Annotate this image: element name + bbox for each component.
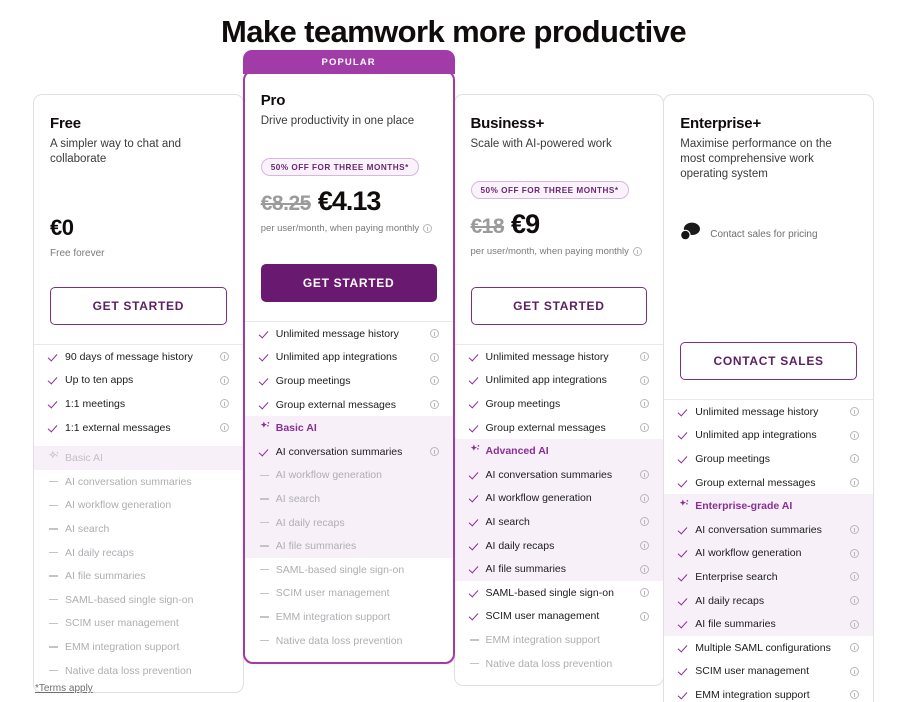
feature-label: SAML-based single sign-on — [486, 587, 638, 599]
feature-label: AI daily recaps — [65, 547, 217, 559]
feature-row: SAML-based single sign-on — [245, 558, 453, 582]
feature-label: Unlimited message history — [276, 328, 427, 340]
feature-state-icon — [260, 545, 276, 546]
info-icon[interactable] — [850, 454, 859, 463]
feature-state-icon — [679, 666, 695, 676]
price-current: €4.13 — [318, 186, 381, 217]
feature-row: SAML-based single sign-on — [34, 588, 243, 612]
feature-label: Group external messages — [695, 477, 847, 489]
feature-row: AI workflow generation — [664, 542, 873, 566]
feature-row: AI file summaries — [664, 612, 873, 636]
cta-wrapper: CONTACT SALES — [664, 342, 873, 380]
feature-label: AI workflow generation — [276, 469, 427, 481]
check-icon — [679, 619, 689, 629]
check-icon — [49, 375, 59, 385]
feature-row: 1:1 external messages — [34, 416, 243, 440]
feature-row: Group external messages — [245, 393, 453, 417]
feature-info-slot — [427, 376, 439, 385]
feature-list: 90 days of message historyUp to ten apps… — [34, 344, 243, 692]
feature-label: SCIM user management — [486, 610, 638, 622]
feature-row: AI file summaries — [245, 534, 453, 558]
info-icon[interactable] — [850, 572, 859, 581]
feature-state-icon — [49, 575, 65, 576]
feature-label: AI daily recaps — [695, 595, 847, 607]
feature-state-icon — [679, 596, 695, 606]
feature-row: Basic AI — [245, 416, 453, 440]
feature-info-slot — [847, 572, 859, 581]
pricing-card-free: FreeA simpler way to chat and collaborat… — [33, 94, 244, 693]
dash-icon — [49, 623, 58, 624]
feature-state-icon — [49, 423, 65, 433]
feature-row: AI conversation summaries — [455, 463, 664, 487]
feature-state-icon — [49, 552, 65, 553]
check-icon — [470, 611, 480, 621]
cta-button-pro[interactable]: GET STARTED — [261, 264, 437, 302]
feature-row: Unlimited app integrations — [455, 369, 664, 393]
feature-state-icon — [260, 593, 276, 594]
feature-row: SAML-based single sign-on — [455, 581, 664, 605]
feature-label: AI conversation summaries — [276, 446, 427, 458]
feature-state-icon — [260, 569, 276, 570]
feature-info-slot — [637, 612, 649, 621]
feature-info-slot — [637, 376, 649, 385]
check-icon — [470, 470, 480, 480]
feature-label: 1:1 external messages — [65, 422, 217, 434]
feature-info-slot — [637, 470, 649, 479]
contact-pricing-text: Contact sales for pricing — [710, 229, 817, 240]
check-icon — [679, 572, 689, 582]
check-icon — [470, 564, 480, 574]
feature-info-slot — [847, 549, 859, 558]
dash-icon — [49, 481, 58, 482]
feature-row: Advanced AI — [455, 439, 664, 463]
feature-state-icon — [260, 640, 276, 641]
check-icon — [470, 588, 480, 598]
feature-row: Group meetings — [455, 392, 664, 416]
feature-state-icon — [470, 375, 486, 385]
dash-icon — [260, 498, 269, 499]
feature-row: AI search — [245, 487, 453, 511]
feature-row: Group meetings — [664, 447, 873, 471]
price-note-text: per user/month, when paying monthly — [261, 223, 419, 234]
feature-label: 90 days of message history — [65, 351, 217, 363]
pricing-card-business-: Business+Scale with AI-powered work50% O… — [454, 94, 665, 686]
info-icon[interactable] — [640, 399, 649, 408]
plan-description: Maximise performance on the most compreh… — [680, 137, 857, 182]
info-icon[interactable] — [850, 478, 859, 487]
check-icon — [470, 517, 480, 527]
feature-label: Unlimited app integrations — [276, 351, 427, 363]
info-icon[interactable] — [640, 541, 649, 550]
feature-row: AI file summaries — [34, 564, 243, 588]
feature-row: Enterprise-grade AI — [664, 494, 873, 518]
feature-info-slot — [637, 399, 649, 408]
terms-apply-link[interactable]: *Terms apply — [35, 683, 93, 694]
check-icon — [679, 690, 689, 700]
info-icon[interactable] — [850, 643, 859, 652]
feature-row: Group external messages — [664, 471, 873, 495]
feature-state-icon — [49, 399, 65, 409]
feature-row: Unlimited app integrations — [245, 346, 453, 370]
feature-state-icon — [470, 588, 486, 598]
contact-pricing-row: Contact sales for pricing — [680, 222, 857, 246]
dash-icon — [49, 646, 58, 647]
feature-state-icon — [49, 528, 65, 529]
info-icon[interactable] — [640, 423, 649, 432]
price-zone: 50% OFF FOR THREE MONTHS*€18€9per user/m… — [455, 167, 664, 287]
feature-state-icon — [260, 376, 276, 386]
feature-row: AI workflow generation — [245, 464, 453, 488]
feature-info-slot — [217, 376, 229, 385]
feature-state-icon — [679, 525, 695, 535]
feature-info-slot — [847, 478, 859, 487]
feature-label: Basic AI — [276, 422, 427, 434]
feature-row: AI daily recaps — [455, 534, 664, 558]
info-icon[interactable] — [220, 423, 229, 432]
feature-label: Native data loss prevention — [486, 658, 638, 670]
feature-row: EMM integration support — [455, 628, 664, 652]
feature-state-icon — [679, 430, 695, 440]
feature-label: Multiple SAML configurations — [695, 642, 847, 654]
dash-icon — [470, 663, 479, 664]
check-icon — [679, 407, 689, 417]
info-icon[interactable] — [850, 549, 859, 558]
price-note-text: per user/month, when paying monthly — [471, 246, 629, 257]
feature-label: EMM integration support — [695, 689, 847, 701]
feature-label: SCIM user management — [695, 665, 847, 677]
feature-row: AI daily recaps — [34, 541, 243, 565]
info-icon[interactable] — [640, 565, 649, 574]
feature-state-icon — [679, 499, 695, 513]
feature-state-icon — [49, 670, 65, 671]
check-icon — [679, 478, 689, 488]
feature-info-slot — [847, 431, 859, 440]
card-header: Business+Scale with AI-powered work — [455, 95, 664, 167]
feature-row: AI search — [455, 510, 664, 534]
discount-badge: 50% OFF FOR THREE MONTHS* — [261, 158, 419, 176]
check-icon — [49, 399, 59, 409]
pricing-card-pro: POPULARProDrive productivity in one plac… — [243, 70, 455, 664]
feature-info-slot — [637, 517, 649, 526]
check-icon — [470, 493, 480, 503]
cta-wrapper: GET STARTED — [34, 287, 243, 325]
price-row: €8.25€4.13 — [261, 186, 437, 217]
sparkle-ai-icon — [679, 499, 690, 513]
feature-state-icon — [679, 643, 695, 653]
info-icon[interactable] — [850, 407, 859, 416]
price-current: €9 — [511, 209, 539, 240]
feature-row: 90 days of message history — [34, 345, 243, 369]
feature-row: Group external messages — [455, 416, 664, 440]
info-icon[interactable] — [220, 376, 229, 385]
check-icon — [260, 447, 270, 457]
info-icon[interactable] — [633, 247, 642, 256]
feature-info-slot — [427, 329, 439, 338]
feature-state-icon — [49, 505, 65, 506]
check-icon — [260, 376, 270, 386]
feature-info-slot — [217, 423, 229, 432]
feature-label: EMM integration support — [486, 634, 638, 646]
feature-info-slot — [847, 454, 859, 463]
price-current: €0 — [50, 215, 73, 241]
feature-label: Native data loss prevention — [65, 665, 217, 677]
feature-row: AI daily recaps — [664, 589, 873, 613]
feature-label: EMM integration support — [65, 641, 217, 653]
feature-info-slot — [637, 541, 649, 550]
feature-info-slot — [637, 565, 649, 574]
feature-label: Basic AI — [65, 452, 217, 464]
feature-label: Native data loss prevention — [276, 635, 427, 647]
dash-icon — [49, 505, 58, 506]
feature-row: SCIM user management — [245, 582, 453, 606]
feature-label: AI file summaries — [695, 618, 847, 630]
info-icon[interactable] — [850, 667, 859, 676]
cta-button-enterprise-[interactable]: CONTACT SALES — [680, 342, 857, 380]
info-icon[interactable] — [850, 525, 859, 534]
check-icon — [679, 548, 689, 558]
feature-state-icon — [260, 475, 276, 476]
dash-icon — [260, 593, 269, 594]
feature-state-icon — [260, 329, 276, 339]
feature-row: SCIM user management — [664, 660, 873, 684]
feature-row: AI conversation summaries — [245, 440, 453, 464]
feature-label: Group meetings — [695, 453, 847, 465]
feature-row: Unlimited message history — [664, 400, 873, 424]
feature-label: Unlimited app integrations — [486, 374, 638, 386]
feature-row: Unlimited message history — [245, 322, 453, 346]
popular-badge: POPULAR — [243, 50, 455, 74]
feature-info-slot — [637, 352, 649, 361]
feature-state-icon — [679, 407, 695, 417]
feature-info-slot — [427, 400, 439, 409]
dash-icon — [260, 616, 269, 617]
feature-row: EMM integration support — [664, 683, 873, 702]
feature-row: AI conversation summaries — [34, 470, 243, 494]
feature-state-icon — [49, 623, 65, 624]
feature-info-slot — [847, 643, 859, 652]
info-icon[interactable] — [850, 431, 859, 440]
feature-label: AI conversation summaries — [695, 524, 847, 536]
feature-row: AI conversation summaries — [664, 518, 873, 542]
feature-state-icon — [470, 493, 486, 503]
feature-label: Group meetings — [486, 398, 638, 410]
feature-state-icon — [260, 421, 276, 435]
info-icon[interactable] — [640, 588, 649, 597]
feature-state-icon — [470, 611, 486, 621]
feature-label: AI file summaries — [65, 570, 217, 582]
feature-list: Unlimited message historyUnlimited app i… — [455, 344, 664, 685]
info-icon[interactable] — [430, 376, 439, 385]
check-icon — [49, 423, 59, 433]
feature-state-icon — [679, 548, 695, 558]
feature-label: EMM integration support — [276, 611, 427, 623]
feature-info-slot — [217, 352, 229, 361]
pricing-page: Make teamwork more productive FreeA simp… — [0, 0, 907, 702]
feature-state-icon — [49, 599, 65, 600]
card-header: FreeA simpler way to chat and collaborat… — [34, 95, 243, 167]
cta-wrapper: GET STARTED — [245, 264, 453, 302]
feature-label: AI search — [65, 523, 217, 535]
feature-state-icon — [260, 498, 276, 499]
feature-label: AI file summaries — [276, 540, 427, 552]
info-icon[interactable] — [640, 612, 649, 621]
check-icon — [470, 352, 480, 362]
feature-label: AI file summaries — [486, 563, 638, 575]
plan-name: Pro — [261, 92, 437, 109]
feature-label: AI workflow generation — [65, 499, 217, 511]
feature-state-icon — [260, 400, 276, 410]
feature-label: AI daily recaps — [486, 540, 638, 552]
feature-row: Group meetings — [245, 369, 453, 393]
feature-label: Unlimited message history — [695, 406, 847, 418]
check-icon — [679, 430, 689, 440]
info-icon[interactable] — [850, 690, 859, 699]
check-icon — [470, 375, 480, 385]
info-icon[interactable] — [640, 352, 649, 361]
feature-row: Unlimited message history — [455, 345, 664, 369]
cta-button-business-[interactable]: GET STARTED — [471, 287, 648, 325]
feature-row: Native data loss prevention — [34, 659, 243, 683]
dash-icon — [49, 528, 58, 529]
dash-icon — [49, 575, 58, 576]
info-icon[interactable] — [850, 620, 859, 629]
dash-icon — [470, 639, 479, 640]
cta-wrapper: GET STARTED — [455, 287, 664, 325]
feature-state-icon — [260, 616, 276, 617]
feature-state-icon — [679, 454, 695, 464]
feature-row: AI workflow generation — [455, 487, 664, 511]
feature-list: Unlimited message historyUnlimited app i… — [664, 399, 873, 702]
feature-state-icon — [679, 619, 695, 629]
check-icon — [260, 352, 270, 362]
feature-label: Group external messages — [276, 399, 427, 411]
check-icon — [679, 454, 689, 464]
info-icon[interactable] — [220, 352, 229, 361]
card-header: ProDrive productivity in one place — [245, 72, 453, 144]
dash-icon — [260, 545, 269, 546]
price-zone: 50% OFF FOR THREE MONTHS*€8.25€4.13per u… — [245, 144, 453, 264]
feature-label: Up to ten apps — [65, 374, 217, 386]
info-icon[interactable] — [850, 596, 859, 605]
info-icon[interactable] — [220, 399, 229, 408]
feature-state-icon — [260, 522, 276, 523]
feature-state-icon — [470, 399, 486, 409]
info-icon[interactable] — [640, 470, 649, 479]
feature-info-slot — [847, 525, 859, 534]
dash-icon — [260, 640, 269, 641]
info-icon[interactable] — [430, 447, 439, 456]
feature-state-icon — [470, 517, 486, 527]
feature-info-slot — [847, 407, 859, 416]
feature-label: AI conversation summaries — [486, 469, 638, 481]
check-icon — [470, 541, 480, 551]
info-icon[interactable] — [640, 517, 649, 526]
feature-label: SCIM user management — [65, 617, 217, 629]
feature-state-icon — [470, 470, 486, 480]
feature-label: SAML-based single sign-on — [65, 594, 217, 606]
pricing-cards-row: FreeA simpler way to chat and collaborat… — [33, 94, 874, 702]
sparkle-ai-icon — [470, 444, 481, 458]
feature-info-slot — [847, 620, 859, 629]
check-icon — [679, 525, 689, 535]
info-icon[interactable] — [423, 224, 432, 233]
check-icon — [470, 399, 480, 409]
feature-state-icon — [260, 447, 276, 457]
check-icon — [679, 596, 689, 606]
feature-state-icon — [470, 663, 486, 664]
info-icon[interactable] — [640, 376, 649, 385]
feature-label: Group meetings — [276, 375, 427, 387]
feature-state-icon — [470, 639, 486, 640]
info-icon[interactable] — [430, 400, 439, 409]
feature-state-icon — [470, 541, 486, 551]
feature-state-icon — [679, 572, 695, 582]
info-icon[interactable] — [430, 353, 439, 362]
feature-state-icon — [260, 352, 276, 362]
plan-description: A simpler way to chat and collaborate — [50, 137, 227, 167]
feature-info-slot — [637, 494, 649, 503]
sparkle-ai-icon — [260, 421, 271, 435]
price-row: €18€9 — [471, 209, 648, 240]
feature-label: SCIM user management — [276, 587, 427, 599]
price-subtext: Free forever — [50, 248, 227, 259]
feature-info-slot — [847, 596, 859, 605]
feature-row: AI daily recaps — [245, 511, 453, 535]
feature-row: Enterprise search — [664, 565, 873, 589]
feature-row: 1:1 meetings — [34, 392, 243, 416]
feature-state-icon — [470, 564, 486, 574]
feature-state-icon — [470, 423, 486, 433]
dash-icon — [49, 670, 58, 671]
plan-name: Enterprise+ — [680, 115, 857, 132]
dash-icon — [49, 599, 58, 600]
feature-state-icon — [49, 481, 65, 482]
feature-row: Native data loss prevention — [455, 652, 664, 676]
feature-info-slot — [427, 353, 439, 362]
feature-label: AI daily recaps — [276, 517, 427, 529]
cta-button-free[interactable]: GET STARTED — [50, 287, 227, 325]
dash-icon — [260, 475, 269, 476]
feature-row: Unlimited app integrations — [664, 424, 873, 448]
feature-row: Basic AI — [34, 446, 243, 470]
info-icon[interactable] — [430, 329, 439, 338]
check-icon — [260, 329, 270, 339]
price-row: €0 — [50, 215, 227, 241]
price-original: €8.25 — [261, 192, 311, 216]
chat-bubbles-icon — [680, 222, 701, 246]
price-zone: Contact sales for pricing — [664, 222, 873, 342]
pricing-card-enterprise-: Enterprise+Maximise performance on the m… — [663, 94, 874, 702]
feature-info-slot — [847, 667, 859, 676]
feature-list: Unlimited message historyUnlimited app i… — [245, 321, 453, 662]
info-icon[interactable] — [640, 494, 649, 503]
feature-row: AI workflow generation — [34, 494, 243, 518]
dash-icon — [49, 552, 58, 553]
feature-state-icon — [49, 352, 65, 362]
feature-label: Advanced AI — [486, 445, 638, 457]
price-note: per user/month, when paying monthly — [471, 246, 648, 257]
dash-icon — [260, 522, 269, 523]
feature-state-icon — [470, 444, 486, 458]
feature-state-icon — [49, 646, 65, 647]
feature-row: Multiple SAML configurations — [664, 636, 873, 660]
feature-label: Enterprise-grade AI — [695, 500, 847, 512]
feature-label: AI search — [486, 516, 638, 528]
feature-label: AI conversation summaries — [65, 476, 217, 488]
dash-icon — [260, 569, 269, 570]
feature-state-icon — [679, 478, 695, 488]
feature-row: EMM integration support — [245, 605, 453, 629]
